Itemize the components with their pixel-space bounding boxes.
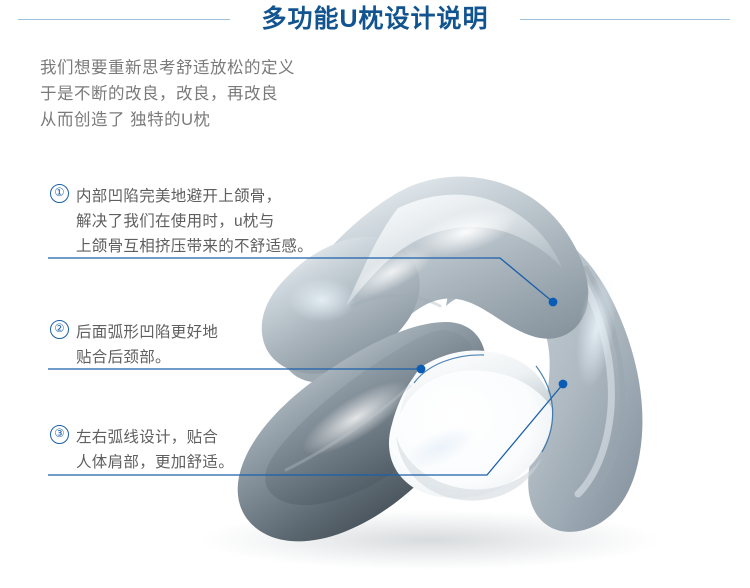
product-description-panel: 多功能U枕设计说明 我们想要重新思考舒适放松的定义 于是不断的改良，改良，再改良…	[0, 0, 750, 588]
feature-item-1: ① 内部凹陷完美地避开上颌骨， 解决了我们在使用时，u枕与 上颌骨互相挤压带来的…	[50, 184, 313, 259]
feature-3-number: ③	[50, 425, 69, 444]
feature-item-2: ② 后面弧形凹陷更好地 贴合后颈部。	[50, 320, 218, 370]
feature-1-line: 上颌骨互相挤压带来的不舒适感。	[76, 234, 313, 259]
callout-2-dot	[417, 365, 426, 374]
callout-1-line	[48, 258, 553, 302]
feature-2-line: 贴合后颈部。	[76, 345, 218, 370]
feature-2-line: 后面弧形凹陷更好地	[76, 320, 218, 345]
feature-1-line: 内部凹陷完美地避开上颌骨，	[76, 184, 313, 209]
feature-item-3: ③ 左右弧线设计，贴合 人体肩部，更加舒适。	[50, 425, 234, 475]
callout-1-dot	[549, 298, 558, 307]
feature-2-number: ②	[50, 320, 69, 339]
feature-1-number: ①	[50, 184, 69, 203]
callout-leader-lines	[0, 0, 750, 588]
callout-3-dot	[559, 380, 568, 389]
feature-3-line: 左右弧线设计，贴合	[76, 425, 234, 450]
feature-1-line: 解决了我们在使用时，u枕与	[76, 209, 313, 234]
feature-3-line: 人体肩部，更加舒适。	[76, 450, 234, 475]
callout-arc-lower	[536, 366, 553, 452]
